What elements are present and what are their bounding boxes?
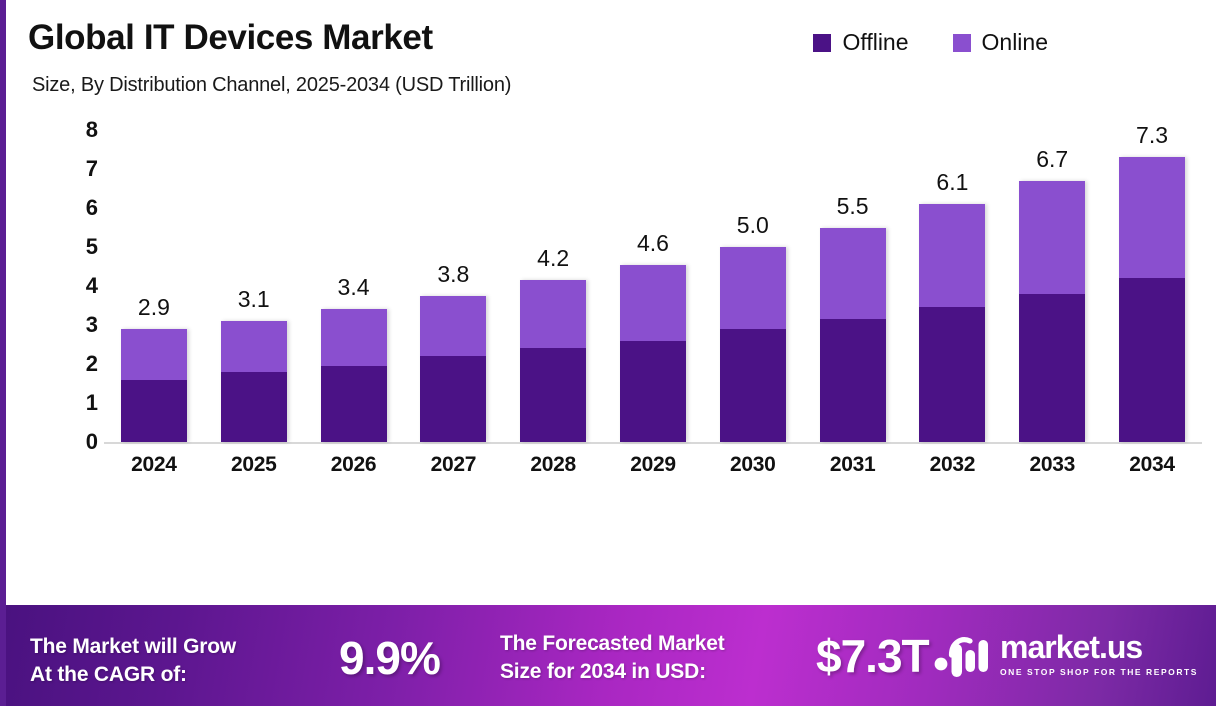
bar-slot-2024: 2.9 [104,130,204,442]
bar-segment-online[interactable] [1019,181,1085,294]
y-tick-label: 0 [54,429,98,455]
y-tick-label: 2 [54,351,98,377]
cagr-label: The Market will Grow At the CAGR of: [30,633,236,689]
chart-card: Global IT Devices Market Size, By Distri… [0,0,1216,706]
bar-segment-online[interactable] [620,265,686,341]
bar-value-label: 3.4 [338,274,370,301]
y-tick-label: 7 [54,156,98,182]
stacked-bar[interactable] [1119,157,1185,442]
bar-value-label: 5.0 [737,212,769,239]
stacked-bar[interactable] [720,247,786,442]
x-tick-label-2030: 2030 [703,453,803,487]
y-tick-label: 8 [54,117,98,143]
bar-segment-online[interactable] [720,247,786,329]
market-us-bars-icon [934,631,988,677]
bar-segment-online[interactable] [321,309,387,366]
x-tick-label-2025: 2025 [204,453,304,487]
cagr-value: 9.9% [339,631,440,685]
bar-segment-offline[interactable] [1019,294,1085,442]
stacked-bar[interactable] [420,296,486,442]
stacked-bar[interactable] [620,265,686,442]
bar-value-label: 7.3 [1136,122,1168,149]
bar-slot-2033: 6.7 [1002,130,1102,442]
bars-container: 2.93.13.43.84.24.65.05.56.16.77.3 [104,130,1202,442]
bar-segment-online[interactable] [520,280,586,348]
bar-slot-2026: 3.4 [304,130,404,442]
legend-label-offline: Offline [842,29,908,56]
bar-value-label: 4.6 [637,230,669,257]
bar-value-label: 3.8 [437,261,469,288]
legend-square-icon [953,34,971,52]
bar-group: 2.93.13.43.84.24.65.05.56.16.77.3 [104,130,1202,442]
bar-segment-offline[interactable] [420,356,486,442]
bar-slot-2032: 6.1 [903,130,1003,442]
bar-segment-offline[interactable] [221,372,287,442]
bar-slot-2025: 3.1 [204,130,304,442]
x-tick-label-2026: 2026 [304,453,404,487]
legend-square-icon [813,34,831,52]
chart-legend: Offline Online [813,29,1048,56]
stacked-bar[interactable] [520,280,586,442]
x-tick-label-2028: 2028 [503,453,603,487]
stacked-bar[interactable] [121,329,187,442]
stacked-bar[interactable] [1019,181,1085,442]
x-tick-label-2032: 2032 [903,453,1003,487]
stacked-bar[interactable] [221,321,287,442]
y-tick-label: 3 [54,312,98,338]
cagr-label-line1: The Market will Grow [30,633,236,661]
stacked-bar[interactable] [321,309,387,442]
x-tick-label-2027: 2027 [403,453,503,487]
bar-slot-2031: 5.5 [803,130,903,442]
chart-header: Global IT Devices Market Size, By Distri… [6,0,1216,110]
bar-slot-2029: 4.6 [603,130,703,442]
bar-segment-online[interactable] [221,321,287,372]
y-tick-label: 6 [54,195,98,221]
forecast-label-line1: The Forecasted Market [500,630,725,658]
legend-label-online: Online [982,29,1048,56]
brand-logo[interactable]: market.us ONE STOP SHOP FOR THE REPORTS [934,631,1198,677]
footer-banner: The Market will Grow At the CAGR of: 9.9… [6,605,1216,706]
bar-segment-offline[interactable] [620,341,686,442]
bar-slot-2027: 3.8 [403,130,503,442]
stacked-bar[interactable] [919,204,985,442]
bar-segment-online[interactable] [121,329,187,380]
bar-value-label: 4.2 [537,245,569,272]
chart-subtitle: Size, By Distribution Channel, 2025-2034… [32,74,511,97]
plot-area: 876543210 2.93.13.43.84.24.65.05.56.16.7… [6,110,1216,605]
bar-slot-2028: 4.2 [503,130,603,442]
bar-segment-online[interactable] [1119,157,1185,278]
bar-segment-offline[interactable] [121,380,187,442]
bar-slot-2034: 7.3 [1102,130,1202,442]
forecast-value: $7.3T [816,629,929,683]
bar-segment-offline[interactable] [720,329,786,442]
bar-value-label: 6.1 [936,169,968,196]
bar-segment-online[interactable] [919,204,985,307]
y-axis: 876543210 [54,130,98,442]
x-axis: 2024202520262027202820292030203120322033… [104,453,1202,487]
brand-name: market.us [1000,631,1198,663]
bar-slot-2030: 5.0 [703,130,803,442]
bar-segment-offline[interactable] [820,319,886,442]
bar-segment-online[interactable] [820,228,886,320]
bar-segment-offline[interactable] [520,348,586,442]
x-tick-label-2024: 2024 [104,453,204,487]
bar-value-label: 2.9 [138,294,170,321]
forecast-label-line2: Size for 2034 in USD: [500,658,725,686]
bar-segment-offline[interactable] [1119,278,1185,442]
y-tick-label: 1 [54,390,98,416]
y-tick-label: 5 [54,234,98,260]
legend-item-online[interactable]: Online [953,29,1048,56]
x-tick-label-2029: 2029 [603,453,703,487]
stacked-bar[interactable] [820,228,886,443]
bar-segment-offline[interactable] [919,307,985,442]
cagr-label-line2: At the CAGR of: [30,661,236,689]
y-tick-label: 4 [54,273,98,299]
forecast-label: The Forecasted Market Size for 2034 in U… [500,630,725,686]
x-tick-label-2031: 2031 [803,453,903,487]
legend-item-offline[interactable]: Offline [813,29,908,56]
bar-segment-online[interactable] [420,296,486,356]
page-title: Global IT Devices Market [28,18,433,58]
bar-value-label: 3.1 [238,286,270,313]
x-tick-label-2034: 2034 [1102,453,1202,487]
bar-value-label: 5.5 [837,193,869,220]
x-tick-label-2033: 2033 [1002,453,1102,487]
x-axis-line [104,442,1202,444]
bar-segment-offline[interactable] [321,366,387,442]
brand-text: market.us ONE STOP SHOP FOR THE REPORTS [1000,631,1198,677]
bar-value-label: 6.7 [1036,146,1068,173]
brand-tagline: ONE STOP SHOP FOR THE REPORTS [1000,667,1198,677]
